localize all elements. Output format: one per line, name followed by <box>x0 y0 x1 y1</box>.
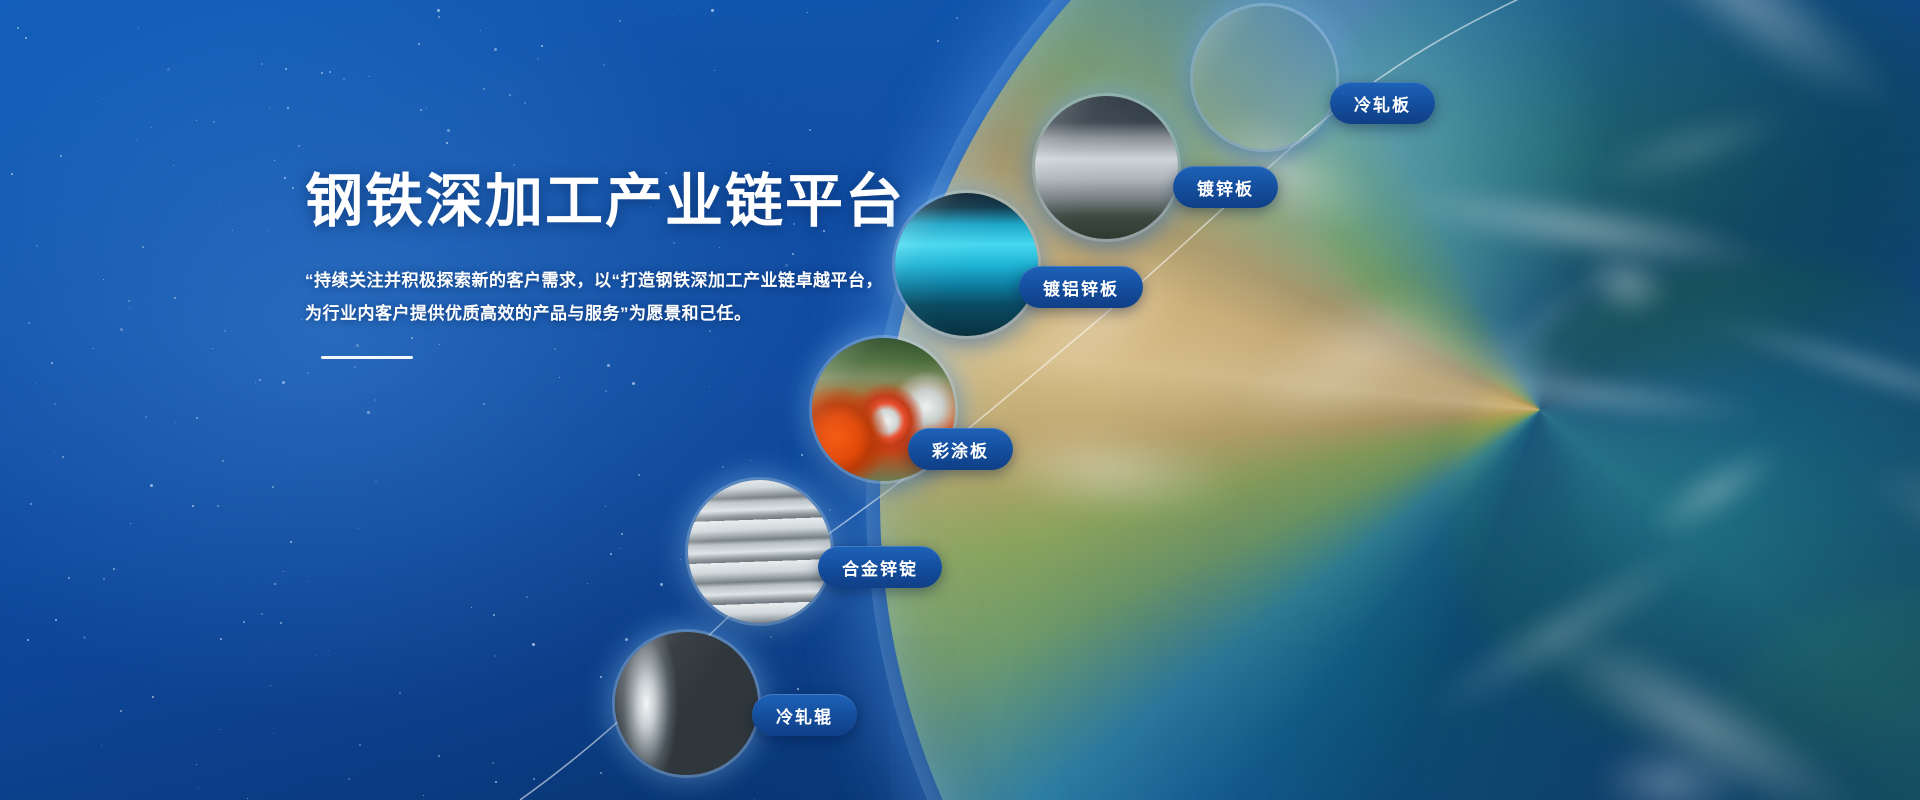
warehouse-coils-icon[interactable] <box>1035 96 1178 239</box>
star-field <box>0 0 1920 800</box>
rolling-roll-icon[interactable] <box>615 632 758 775</box>
landmass-south <box>1660 590 1920 800</box>
product-label-1[interactable]: 镀锌板 <box>1173 166 1278 208</box>
hero-text-block: 钢铁深加工产业链平台 “持续关注并积极探索新的客户需求，以“打造钢铁深加工产业链… <box>305 170 925 359</box>
subtitle-line-2: 为行业内客户提供优质高效的产品与服务”为愿景和己任。 <box>305 297 925 330</box>
connector-path <box>0 0 1920 800</box>
cyan-coil-icon[interactable] <box>895 193 1038 336</box>
hero-banner: 钢铁深加工产业链平台 “持续关注并积极探索新的客户需求，以“打造钢铁深加工产业链… <box>0 0 1920 800</box>
product-label-3[interactable]: 彩涂板 <box>908 428 1013 470</box>
steel-coil-icon[interactable] <box>1193 6 1336 149</box>
subtitle-line-1: “持续关注并积极探索新的客户需求，以“打造钢铁深加工产业链卓越平台， <box>305 264 925 297</box>
zinc-ingot-icon[interactable] <box>688 480 831 623</box>
landmass-north <box>1300 0 1920 380</box>
product-label-2[interactable]: 镀铝锌板 <box>1019 266 1143 308</box>
landmass-west <box>1180 440 1690 800</box>
title-underline-accent <box>321 356 413 359</box>
product-label-0[interactable]: 冷轧板 <box>1330 82 1435 124</box>
hero-subtitle: “持续关注并积极探索新的客户需求，以“打造钢铁深加工产业链卓越平台， 为行业内客… <box>305 264 925 330</box>
product-label-5[interactable]: 冷轧辊 <box>752 694 857 736</box>
page-title: 钢铁深加工产业链平台 <box>305 170 925 234</box>
landmass-desert <box>1450 260 1920 770</box>
product-label-4[interactable]: 合金锌锭 <box>818 546 942 588</box>
